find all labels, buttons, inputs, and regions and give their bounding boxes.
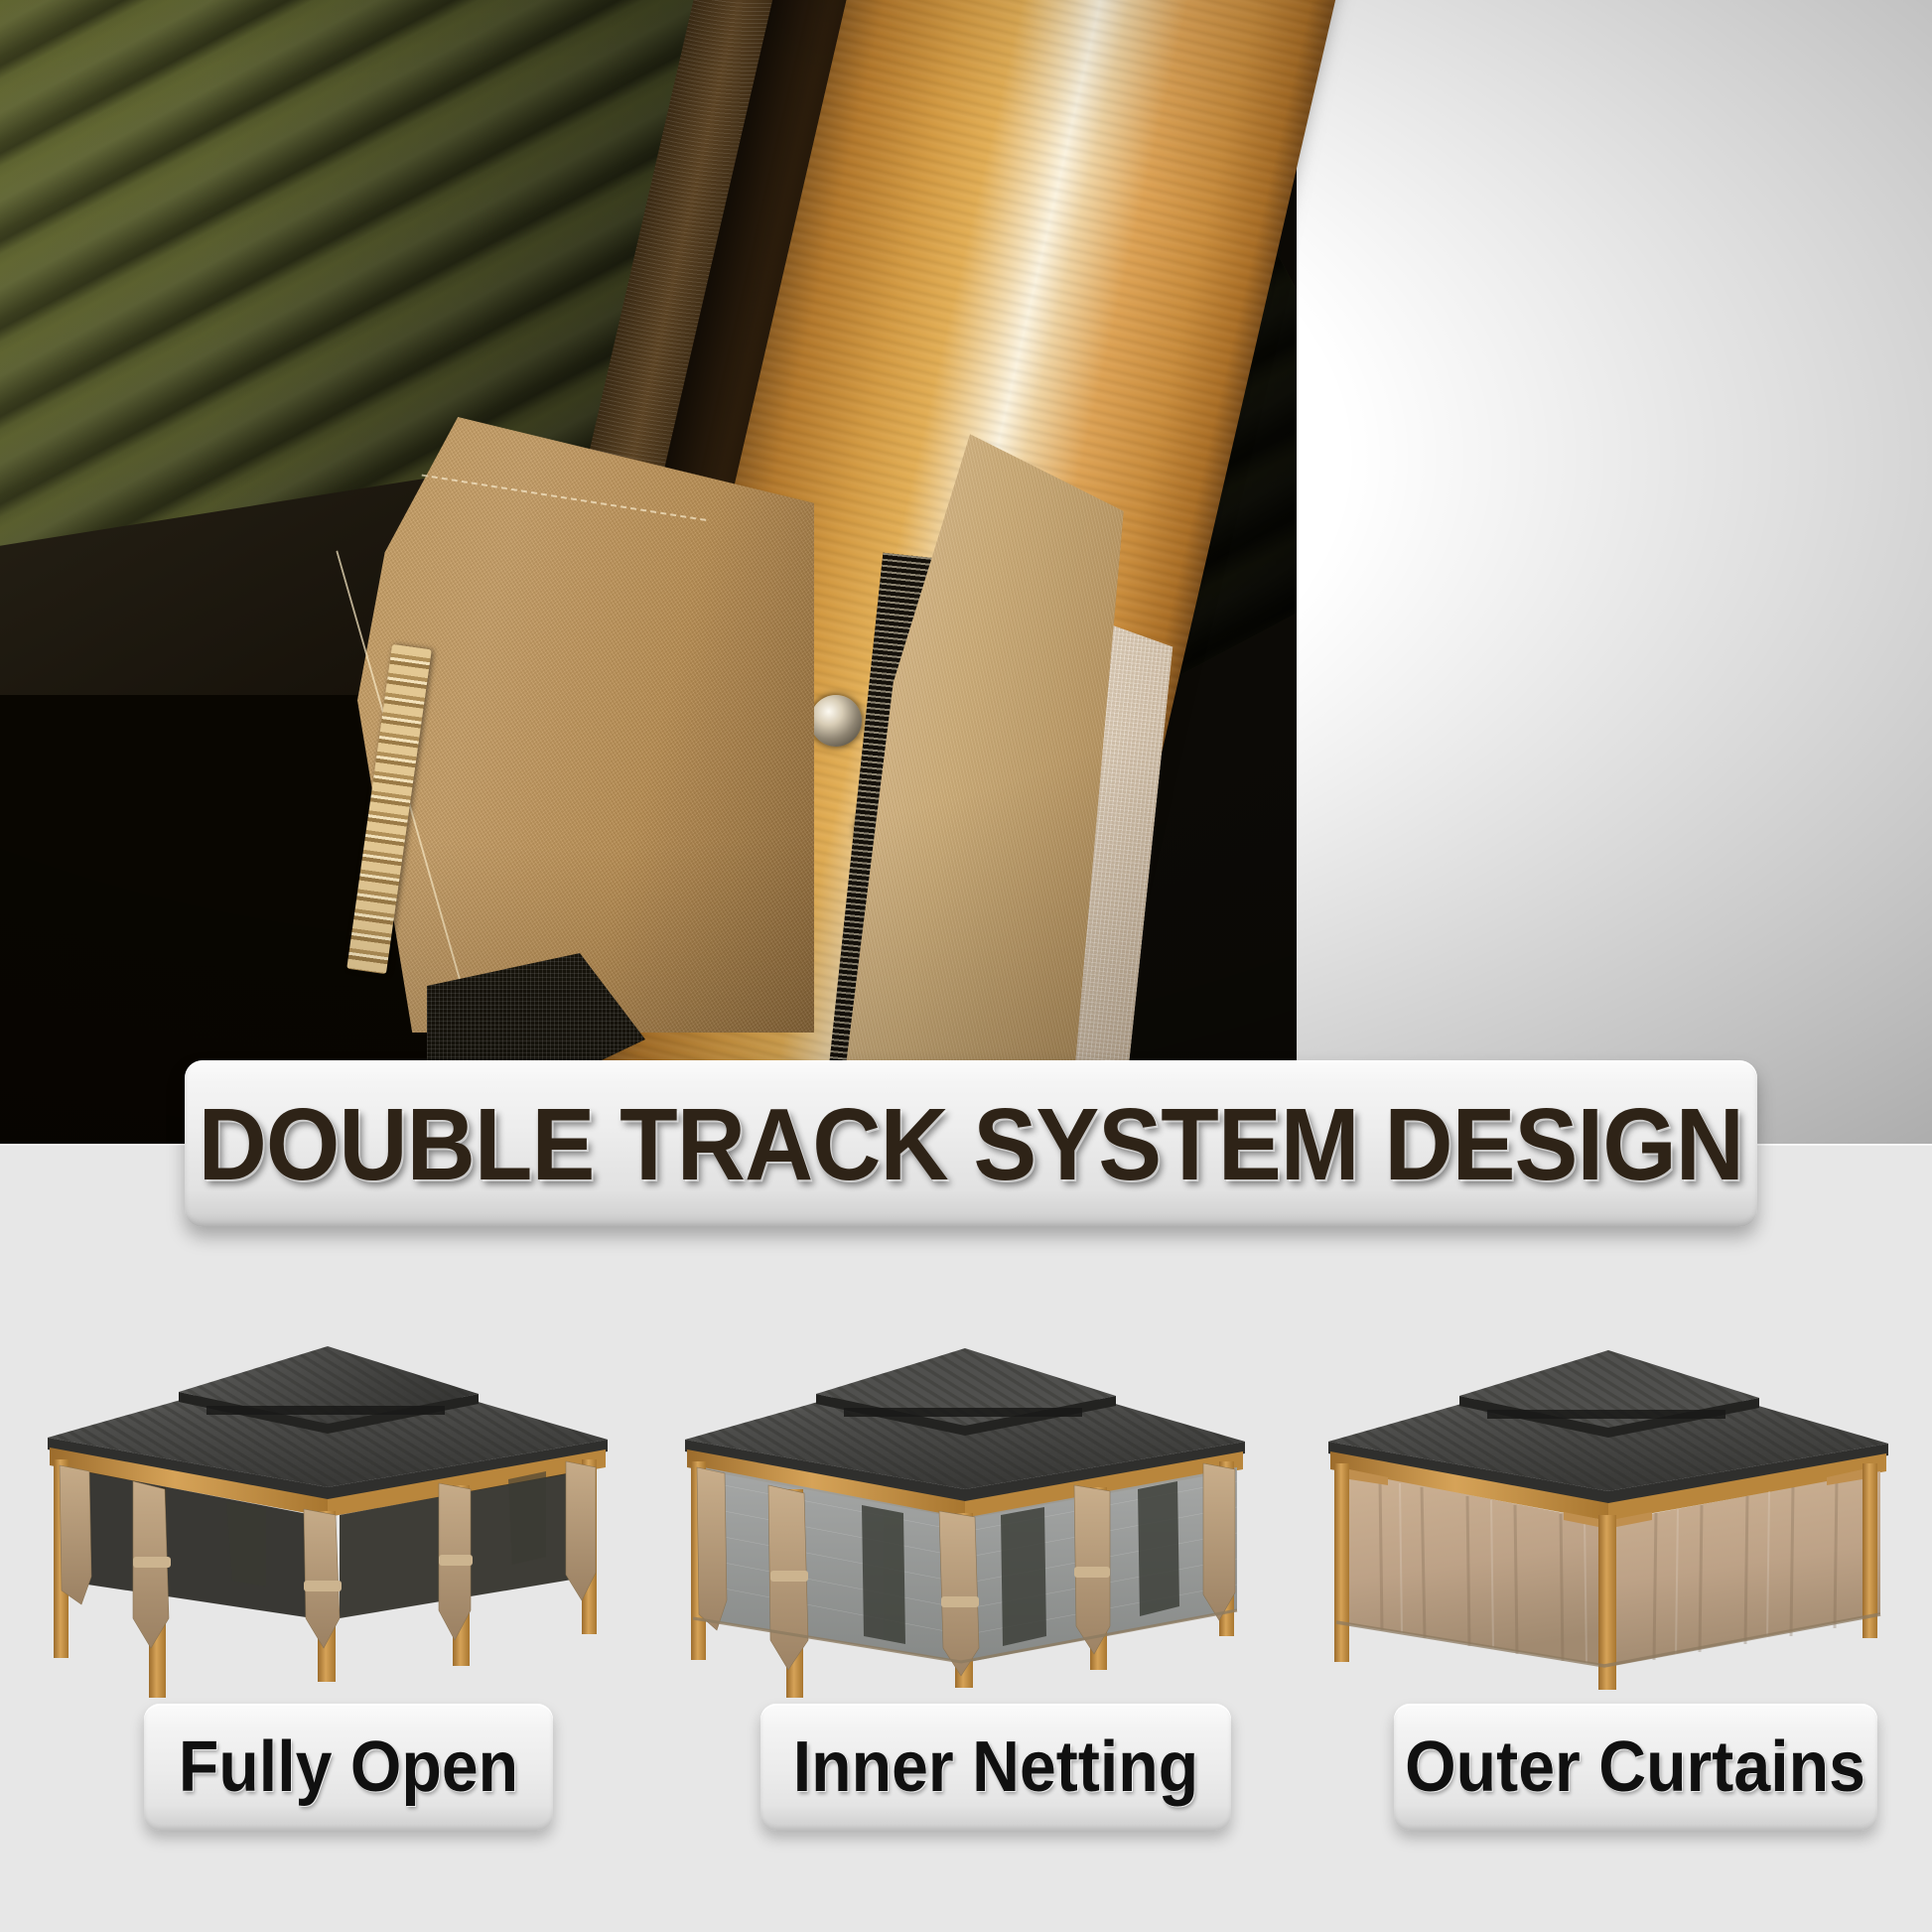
photo-white-background	[1297, 0, 1932, 1144]
product-infographic-canvas: DOUBLE TRACK SYSTEM DESIGN	[0, 0, 1932, 1932]
label-text-inner-netting: Inner Netting	[793, 1726, 1198, 1808]
label-text-fully-open: Fully Open	[179, 1726, 518, 1808]
label-pill-outer-curtains: Outer Curtains	[1394, 1704, 1877, 1831]
curtain-grommet-1	[810, 695, 862, 747]
double-track-system-closeup-photo	[0, 0, 1932, 1144]
headline-title: DOUBLE TRACK SYSTEM DESIGN	[199, 1093, 1743, 1195]
gazebo-illustration-inner-netting	[667, 1320, 1263, 1698]
gazebo-illustration-outer-curtains	[1311, 1320, 1906, 1698]
gazebo-illustration-fully-open	[30, 1320, 625, 1698]
headline-banner: DOUBLE TRACK SYSTEM DESIGN	[185, 1060, 1757, 1227]
gazebo-illustration-row	[0, 1320, 1932, 1698]
label-pill-inner-netting: Inner Netting	[760, 1704, 1231, 1831]
label-text-outer-curtains: Outer Curtains	[1406, 1726, 1866, 1808]
label-pill-fully-open: Fully Open	[144, 1704, 553, 1831]
